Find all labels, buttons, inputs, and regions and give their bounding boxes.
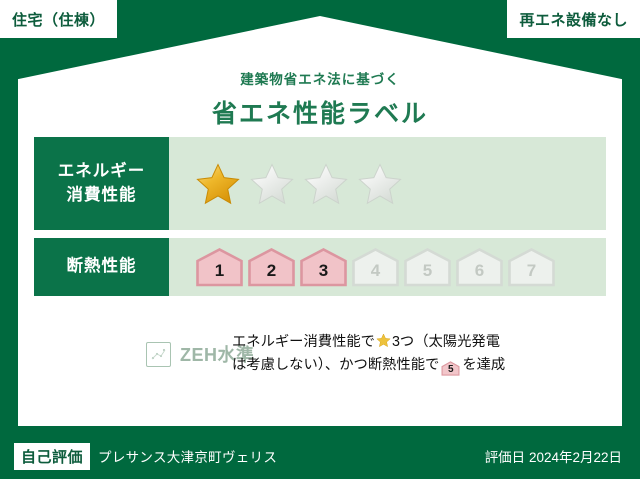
footer-bar: 自己評価 プレサンス大津京町ヴェリス 評価日 2024年2月22日 (0, 433, 640, 479)
footer-left: 自己評価 プレサンス大津京町ヴェリス (0, 443, 277, 470)
star-empty-icon (357, 162, 403, 206)
insulation-level-number: 1 (215, 262, 224, 287)
badge-self-evaluation: 自己評価 (14, 443, 90, 470)
zeh-mark: ZEH水準 (34, 341, 182, 367)
insulation-level-filled: 3 (299, 247, 348, 287)
inline-house-level: 5 (441, 361, 460, 378)
evaluation-date: 評価日 2024年2月22日 (485, 446, 640, 466)
energy-label-card: 住宅（住棟） 再エネ設備なし 建築物省エネ法に基づく 省エネ性能ラベル エネルギ… (0, 0, 640, 479)
badge-building-type: 住宅（住棟） (0, 0, 117, 38)
insulation-level-empty: 5 (403, 247, 452, 287)
row-label-energy-line2: 消費性能 (67, 184, 137, 208)
row-label-energy: エネルギー 消費性能 (34, 137, 169, 230)
zeh-block: ZEH水準 エネルギー消費性能で3つ（太陽光発電 は考慮しない）、かつ断熱性能で… (34, 312, 606, 396)
row-energy-consumption: エネルギー 消費性能 (34, 137, 606, 230)
building-name: プレサンス大津京町ヴェリス (98, 446, 277, 466)
zeh-desc-text-2: 3つ（太陽光発電 (392, 334, 500, 350)
zeh-desc-text-4: を達成 (462, 357, 505, 373)
row-body-insulation: 1234567 (169, 238, 606, 296)
insulation-level-number: 5 (423, 262, 432, 287)
inline-star-icon (376, 333, 391, 348)
badge-renewable-energy: 再エネ設備なし (507, 0, 640, 38)
row-label-insulation: 断熱性能 (34, 238, 169, 296)
insulation-level-empty: 4 (351, 247, 400, 287)
row-insulation: 断熱性能 1234567 (34, 238, 606, 296)
title-subtitle: 建築物省エネ法に基づく (18, 68, 622, 88)
zeh-description-line2: は考慮しない）、かつ断熱性能で5を達成 (232, 354, 606, 377)
row-body-energy (169, 137, 606, 230)
zeh-description-line1: エネルギー消費性能で3つ（太陽光発電 (232, 331, 606, 354)
row-label-insulation-line1: 断熱性能 (67, 255, 137, 279)
page-title: 省エネ性能ラベル (18, 94, 622, 130)
title-block: 建築物省エネ法に基づく 省エネ性能ラベル (18, 68, 622, 130)
performance-rows: エネルギー 消費性能 断熱性能 1234567 (34, 137, 606, 296)
insulation-level-number: 7 (527, 262, 536, 287)
star-empty-icon (249, 162, 295, 206)
zeh-description: エネルギー消費性能で3つ（太陽光発電 は考慮しない）、かつ断熱性能で5を達成 (182, 331, 606, 377)
label-panel: 建築物省エネ法に基づく 省エネ性能ラベル エネルギー 消費性能 断熱性能 123… (18, 16, 622, 426)
insulation-level-empty: 7 (507, 247, 556, 287)
insulation-level-filled: 1 (195, 247, 244, 287)
inline-house-icon: 5 (441, 361, 460, 376)
zeh-icon (146, 342, 171, 367)
insulation-level-number: 4 (371, 262, 380, 287)
insulation-level-number: 3 (319, 262, 328, 287)
star-rating (195, 162, 403, 206)
zeh-desc-text-3: は考慮しない）、かつ断熱性能で (232, 357, 439, 373)
star-filled-icon (195, 162, 241, 206)
insulation-level-number: 6 (475, 262, 484, 287)
zeh-desc-text-1: エネルギー消費性能で (232, 334, 375, 350)
insulation-level-number: 2 (267, 262, 276, 287)
insulation-level-scale: 1234567 (195, 247, 556, 287)
insulation-level-filled: 2 (247, 247, 296, 287)
star-empty-icon (303, 162, 349, 206)
row-label-energy-line1: エネルギー (58, 160, 146, 184)
insulation-level-empty: 6 (455, 247, 504, 287)
